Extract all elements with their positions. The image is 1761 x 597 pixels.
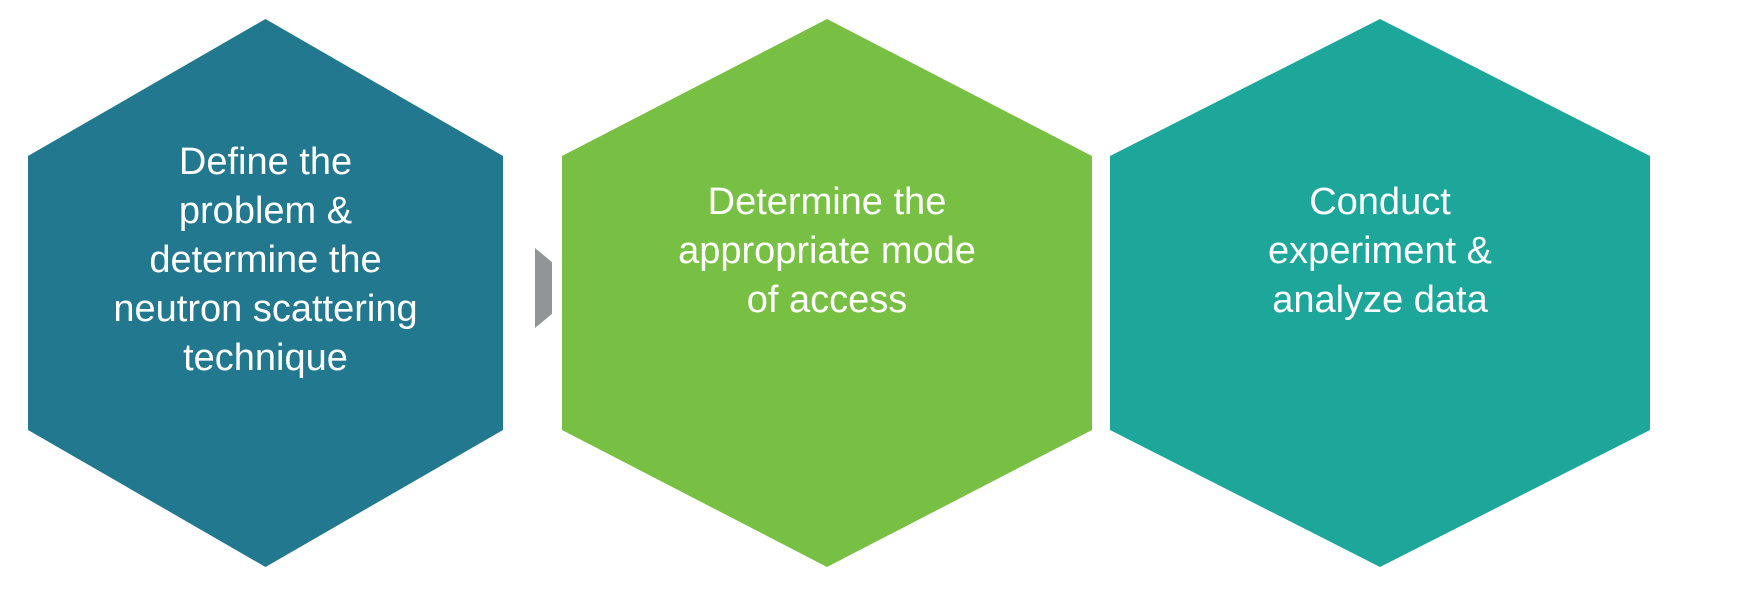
hexagon-fill-2 [562,19,1092,567]
process-step-3[interactable]: Conduct experiment & analyze data [1100,8,1660,578]
hexagon-shape-3 [1100,8,1660,578]
process-step-2[interactable]: Determine the appropriate mode of access [552,8,1102,578]
process-step-1[interactable]: Define the problem & determine the neutr… [18,8,513,578]
diagram-canvas: Define the problem & determine the neutr… [0,0,1761,597]
hexagon-shape-2 [552,8,1102,578]
hexagon-fill-1 [28,19,503,567]
hexagon-fill-3 [1110,19,1650,567]
hexagon-shape-1 [18,8,513,578]
